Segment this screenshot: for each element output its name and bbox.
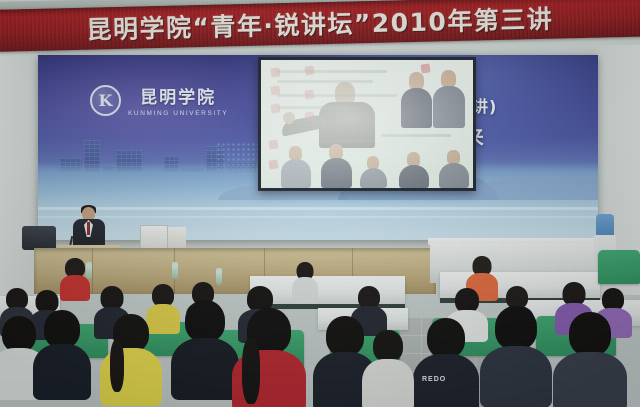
stage-monitor — [22, 226, 56, 250]
logo-english-name: KUNMING UNIVERSITY — [128, 110, 228, 117]
projection-screen — [258, 57, 476, 191]
presenter-tie — [87, 222, 90, 235]
projected-footage — [261, 60, 473, 188]
audience-member: REDO — [418, 318, 474, 407]
university-logo: K 昆明学院 KUNMING UNIVERSITY — [90, 83, 228, 117]
shirt-logo-text: REDO — [422, 376, 446, 383]
audience-torso — [60, 275, 90, 301]
audience-member — [36, 310, 88, 396]
water-bottle — [172, 262, 178, 279]
audience-member — [486, 306, 546, 404]
audience-member — [292, 262, 318, 300]
lecture-hall-photo: K 昆明学院 KUNMING UNIVERSITY 十二讲) ·未来 绍尧 — [0, 0, 640, 407]
logo-chinese-name: 昆明学院 — [140, 83, 216, 108]
audience-member — [104, 314, 158, 404]
audience-member — [560, 312, 620, 407]
audience-member — [176, 300, 234, 396]
audience-member — [366, 330, 410, 407]
logo-mark-icon: K — [90, 85, 121, 116]
auditorium-seat — [598, 250, 640, 284]
screen-glare — [261, 60, 473, 188]
audience-member — [60, 258, 90, 298]
audience-member — [238, 308, 300, 407]
stage-equipment-box-2 — [168, 227, 186, 249]
